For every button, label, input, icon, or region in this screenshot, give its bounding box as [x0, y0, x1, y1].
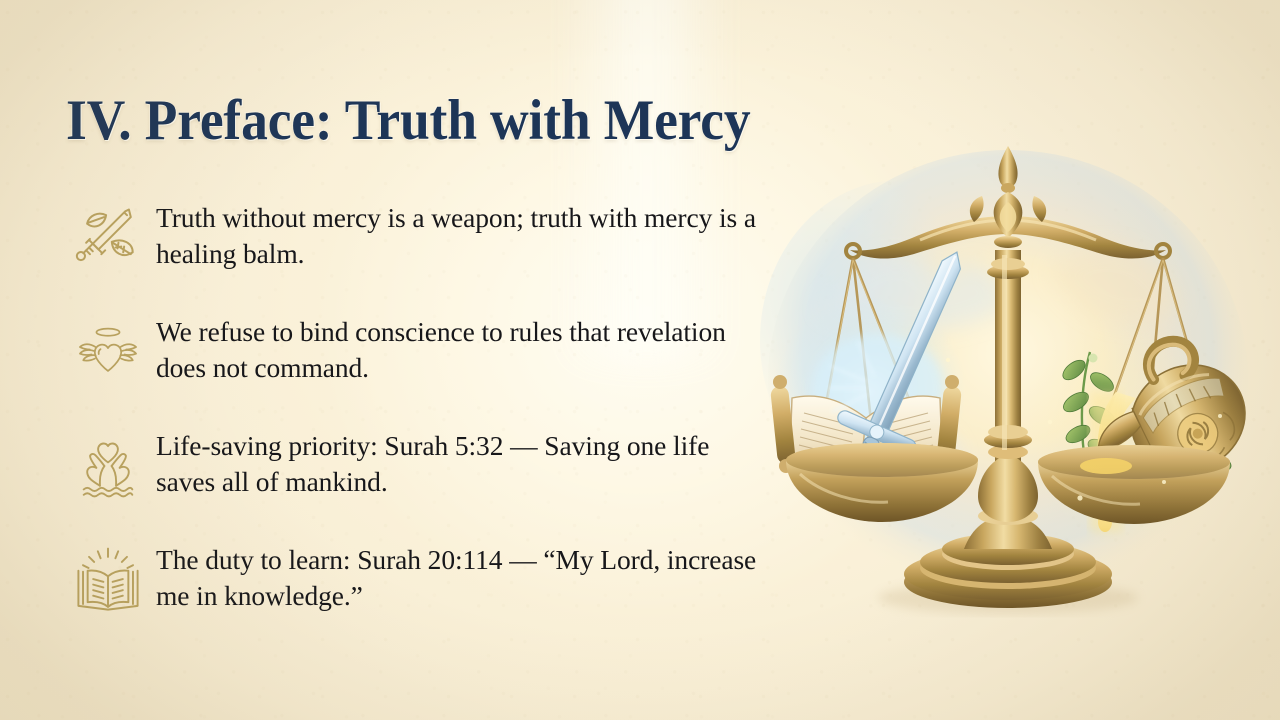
list-item: We refuse to bind conscience to rules th… [60, 304, 760, 396]
slide-root: IV. Preface: Truth with Mercy [0, 0, 1280, 720]
list-item: Truth without mercy is a weapon; truth w… [60, 190, 760, 282]
page-title: IV. Preface: Truth with Mercy [66, 88, 750, 153]
list-item-label: The duty to learn: Surah 20:114 — “My Lo… [156, 532, 760, 615]
winged-heart-halo-icon [60, 304, 156, 396]
list-item: Life-saving priority: Surah 5:32 — Savin… [60, 418, 760, 510]
list-item-label: Life-saving priority: Surah 5:32 — Savin… [156, 418, 760, 501]
list-item-label: We refuse to bind conscience to rules th… [156, 304, 760, 387]
list-item: The duty to learn: Surah 20:114 — “My Lo… [60, 532, 760, 624]
bullet-list: Truth without mercy is a weapon; truth w… [60, 190, 760, 624]
open-book-rays-icon [60, 532, 156, 624]
list-item-label: Truth without mercy is a weapon; truth w… [156, 190, 760, 273]
hands-holding-heart-icon [60, 418, 156, 510]
sword-and-leaves-icon [60, 190, 156, 282]
balance-scale-truth-and-mercy-illustration [750, 130, 1270, 660]
